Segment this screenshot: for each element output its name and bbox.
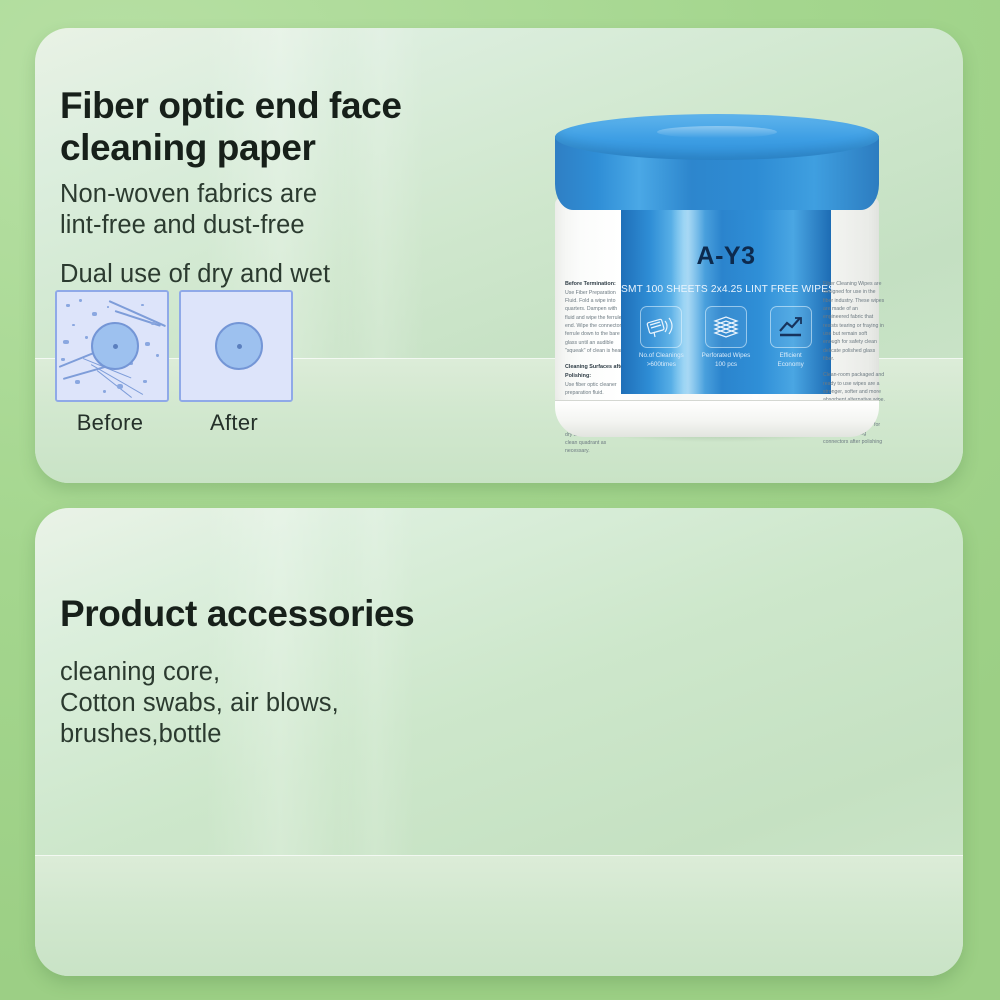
product-infographic: Fiber optic end face cleaning paper Non-… bbox=[0, 0, 1000, 1000]
feature-economy-caption: Efficient Economy bbox=[763, 352, 819, 369]
feature-cleanings: No.of Cleanings >600times bbox=[633, 306, 689, 369]
wipe-cleaning-icon bbox=[640, 306, 682, 348]
feature-wipes-caption: Perforated Wipes 100 pcs bbox=[698, 352, 754, 369]
growth-arrow-icon bbox=[770, 306, 812, 348]
canister-blue-label: A-Y3 SMT 100 SHEETS 2x4.25 LINT FREE WIP… bbox=[621, 196, 831, 394]
tabletop-surface bbox=[35, 856, 963, 976]
fiber-core-circle bbox=[215, 322, 263, 370]
feature-cleanings-caption: No.of Cleanings >600times bbox=[633, 352, 689, 369]
canister-base bbox=[555, 400, 879, 437]
canister-right-label: Fiber Cleaning Wipes are designed for us… bbox=[823, 280, 885, 483]
panel-product-accessories: Product accessories cleaning core, Cotto… bbox=[35, 508, 963, 976]
panel-fiber-cleaning-paper: Fiber optic end face cleaning paper Non-… bbox=[35, 28, 963, 483]
feature-bullet-2: Dual use of dry and wet bbox=[60, 259, 520, 290]
before-microscope-image bbox=[55, 290, 169, 402]
product-model-name: A-Y3 bbox=[621, 242, 831, 271]
canister-body: Before Termination:Use Fiber Preparation… bbox=[555, 196, 879, 432]
accessories-list: cleaning core, Cotton swabs, air blows, … bbox=[60, 657, 580, 750]
feature-bullet-1: Non-woven fabrics are lint-free and dust… bbox=[60, 179, 520, 241]
canister-lid bbox=[555, 114, 879, 160]
accessories-title: Product accessories bbox=[60, 593, 580, 635]
before-label: Before bbox=[55, 410, 165, 436]
after-label: After bbox=[179, 410, 289, 436]
feature-economy: Efficient Economy bbox=[763, 306, 819, 369]
product-canister: Before Termination:Use Fiber Preparation… bbox=[547, 114, 887, 444]
lid-notch bbox=[657, 126, 777, 138]
after-microscope-image bbox=[179, 290, 293, 402]
product-spec-line: SMT 100 SHEETS 2x4.25 LINT FREE WIPES bbox=[621, 284, 831, 295]
canister-left-label: Before Termination:Use Fiber Preparation… bbox=[565, 280, 627, 483]
stacked-wipes-icon bbox=[705, 306, 747, 348]
page-title: Fiber optic end face cleaning paper bbox=[60, 85, 540, 169]
feature-icon-row: No.of Cleanings >600times bbox=[629, 306, 823, 369]
fiber-core-circle bbox=[91, 322, 139, 370]
feature-wipes: Perforated Wipes 100 pcs bbox=[698, 306, 754, 369]
